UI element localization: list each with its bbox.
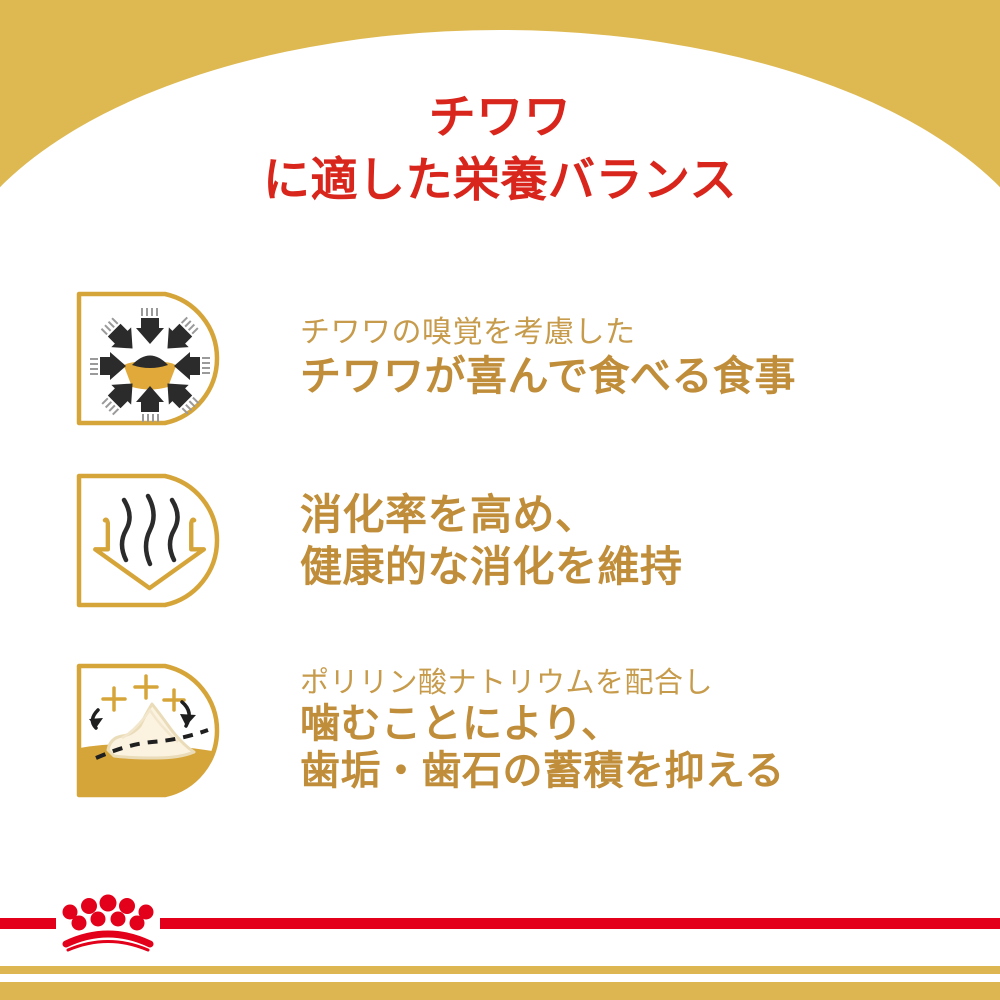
royal-canin-crown-logo — [56, 892, 160, 952]
feature-icon-cell — [0, 468, 300, 613]
aroma-bowl-icon — [70, 286, 230, 431]
promo-page: チワワ に適した栄養バランス — [0, 0, 1000, 1000]
feature-subline: ポリリン酸ナトリウムを配合し — [300, 666, 980, 701]
feature-headline-2: 歯垢・歯石の蓄積を抑える — [300, 748, 980, 795]
footer-rule-left — [0, 918, 56, 929]
feature-row: チワワの嗅覚を考慮した チワワが喜んで食べる食事 — [0, 268, 1000, 448]
feature-headline: 噛むことにより、 — [300, 701, 980, 748]
feature-icon-cell — [0, 286, 300, 431]
footer-gold-bar-thick — [0, 982, 1000, 1000]
footer-rule-right — [160, 918, 1000, 929]
feature-list: チワワの嗅覚を考慮した チワワが喜んで食べる食事 — [0, 268, 1000, 828]
feature-text-cell: チワワの嗅覚を考慮した チワワが喜んで食べる食事 — [300, 315, 1000, 401]
feature-headline: 消化率を高め、 — [300, 489, 980, 540]
feature-text-cell: 消化率を高め、 健康的な消化を維持 — [300, 489, 1000, 591]
feature-headline-2: 健康的な消化を維持 — [300, 541, 980, 592]
feature-text-cell: ポリリン酸ナトリウムを配合し 噛むことにより、 歯垢・歯石の蓄積を抑える — [300, 666, 1000, 796]
feature-headline: チワワが喜んで食べる食事 — [300, 352, 980, 401]
feature-row: 消化率を高め、 健康的な消化を維持 — [0, 448, 1000, 633]
feature-subline: チワワの嗅覚を考慮した — [300, 315, 980, 352]
digestion-steam-icon — [70, 468, 230, 613]
title-line-1: チワワ — [0, 92, 1000, 143]
dental-tooth-icon — [70, 658, 230, 803]
footer-gold-bar-thin — [0, 966, 1000, 974]
page-title: チワワ に適した栄養バランス — [0, 92, 1000, 206]
feature-icon-cell — [0, 658, 300, 803]
footer — [0, 878, 1000, 1000]
feature-row: ポリリン酸ナトリウムを配合し 噛むことにより、 歯垢・歯石の蓄積を抑える — [0, 633, 1000, 828]
title-line-2: に適した栄養バランス — [0, 155, 1000, 206]
